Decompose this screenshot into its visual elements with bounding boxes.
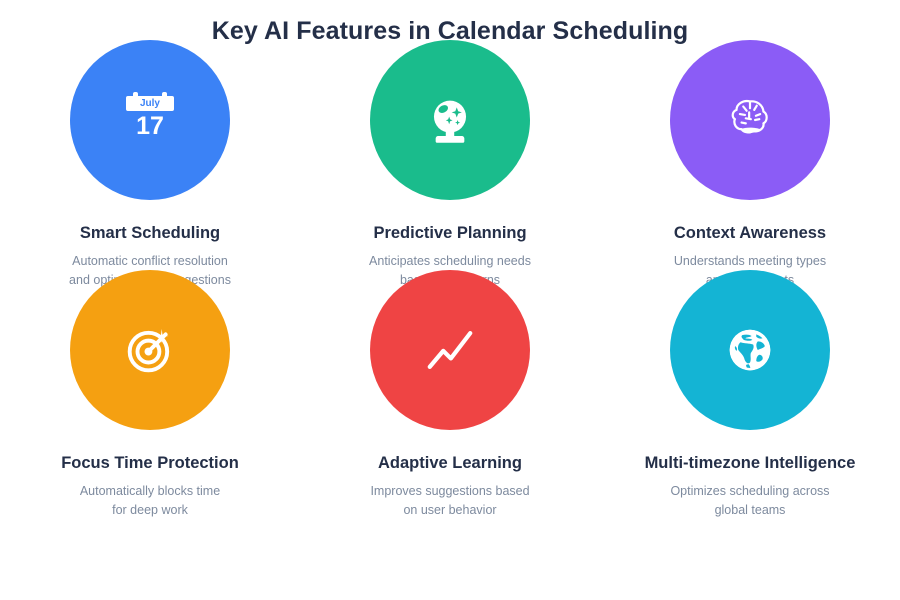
chart-increasing-icon [423, 323, 477, 377]
feature-title: Predictive Planning [300, 222, 600, 244]
feature-title: Multi-timezone Intelligence [600, 452, 900, 474]
feature-title: Smart Scheduling [0, 222, 300, 244]
feature-icon-circle[interactable] [670, 40, 830, 200]
target-icon [125, 325, 175, 375]
calendar-icon: July 17 [122, 92, 178, 148]
feature-description: Automatically blocks time for deep work [0, 482, 300, 519]
feature-description: Improves suggestions based on user behav… [300, 482, 600, 519]
feature-text-block: Multi-timezone Intelligence Optimizes sc… [600, 452, 900, 519]
feature-description: Optimizes scheduling across global teams [600, 482, 900, 519]
feature-title: Focus Time Protection [0, 452, 300, 474]
crystal-ball-icon [423, 93, 477, 147]
infographic-canvas: Key AI Features in Calendar Scheduling J… [0, 0, 900, 600]
feature-icon-circle[interactable] [70, 270, 230, 430]
feature-text-block: Adaptive Learning Improves suggestions b… [300, 452, 600, 519]
calendar-day-label: 17 [122, 112, 178, 140]
feature-title: Adaptive Learning [300, 452, 600, 474]
feature-title: Context Awareness [600, 222, 900, 244]
globe-icon [725, 325, 775, 375]
feature-icon-circle[interactable] [370, 270, 530, 430]
feature-icon-circle[interactable] [370, 40, 530, 200]
feature-icon-circle[interactable] [670, 270, 830, 430]
calendar-month-label: July [126, 96, 174, 111]
brain-icon [723, 93, 777, 147]
feature-text-block: Focus Time Protection Automatically bloc… [0, 452, 300, 519]
feature-icon-circle[interactable]: July 17 [70, 40, 230, 200]
